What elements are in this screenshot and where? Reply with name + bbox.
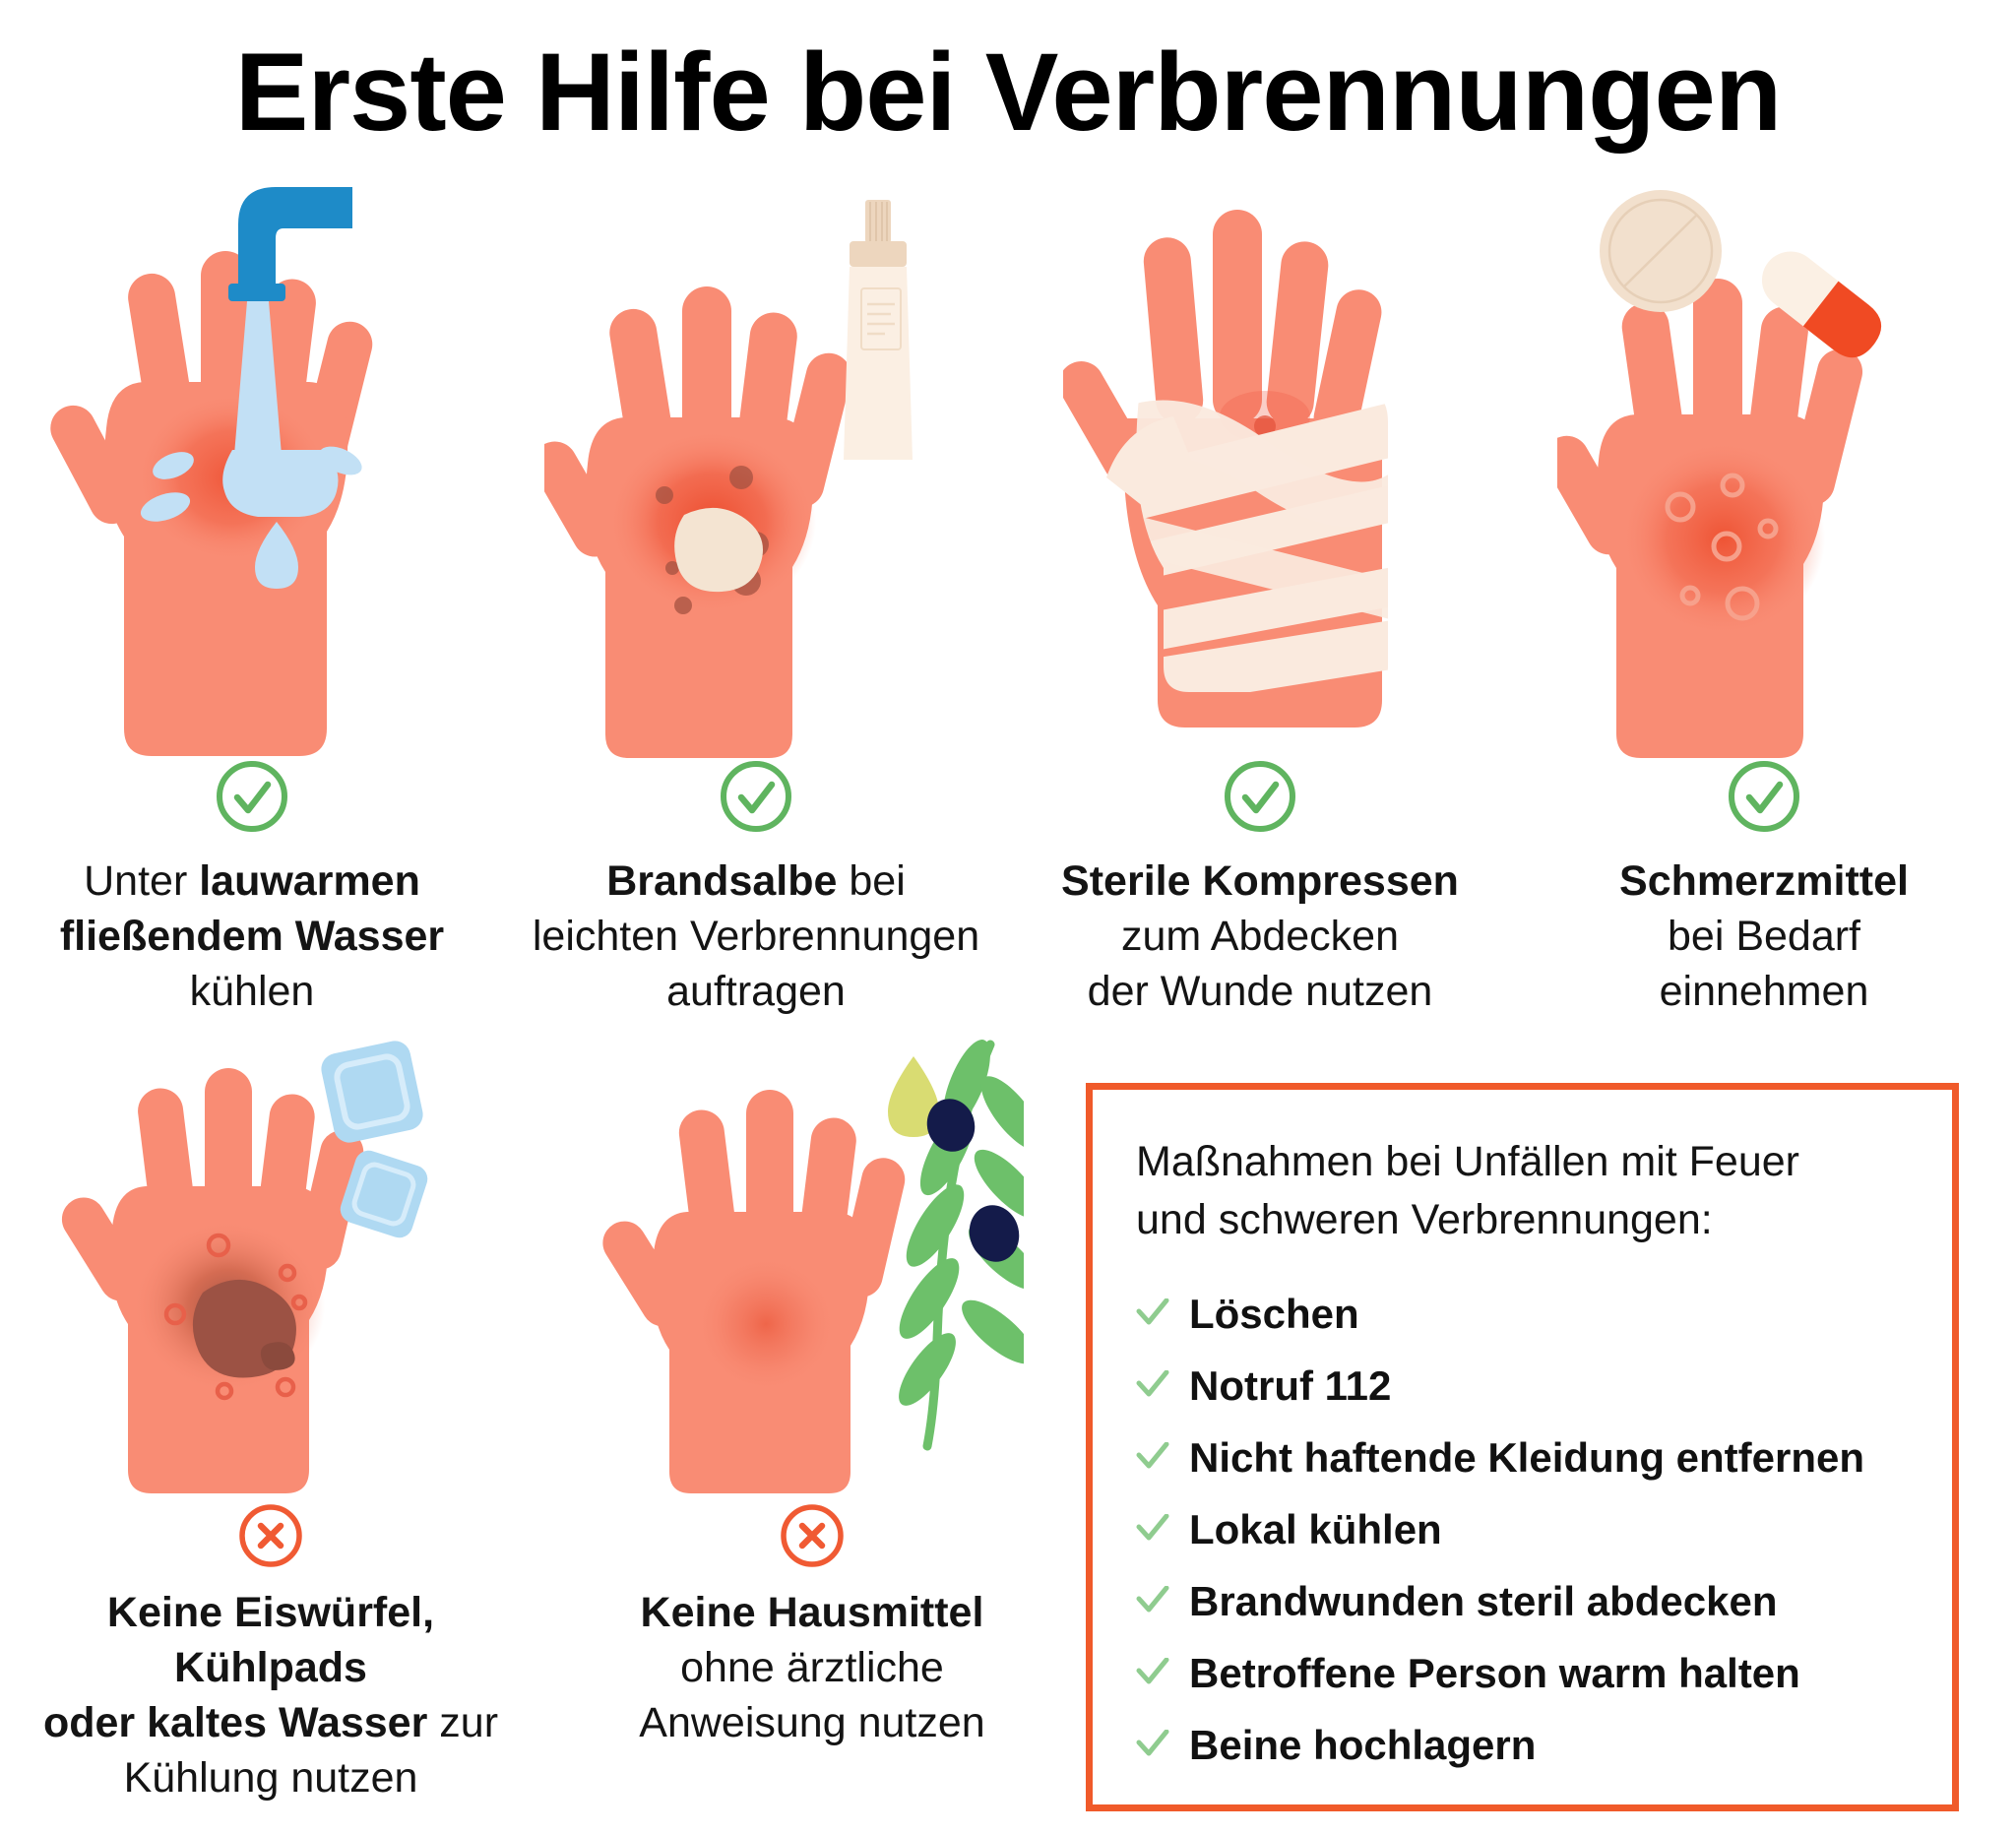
list-item-label: Lokal kühlen [1189, 1509, 1442, 1550]
illustration-hand-with-pill-and-capsule [1512, 182, 2016, 758]
list-item: Nicht haftende Kleidung entfernen [1136, 1437, 1913, 1479]
check-mark-icon [1136, 1658, 1169, 1685]
card-caption: Keine Eiswürfel, Kühlpadsoder kaltes Was… [0, 1586, 541, 1806]
illustration-hand-under-running-water [0, 182, 504, 758]
list-item-label: Brandwunden steril abdecken [1189, 1581, 1777, 1622]
illustration-hand-with-burn-ointment-tube [504, 182, 1008, 758]
list-item: Löschen [1136, 1294, 1913, 1335]
card-painkillers: Schmerzmittelbei Bedarfeinnehmen [1512, 182, 2016, 1009]
list-item-label: Notruf 112 [1189, 1365, 1391, 1407]
illustration-hand-with-olive-branch-and-oil [541, 1019, 1083, 1501]
cross-icon [778, 1501, 847, 1570]
check-icon [1726, 758, 1802, 835]
list-item: Notruf 112 [1136, 1365, 1913, 1407]
card-caption: Schmerzmittelbei Bedarfeinnehmen [1609, 854, 1919, 1020]
measures-list: Löschen Notruf 112 Nicht haftende Kleidu… [1136, 1294, 1913, 1766]
card-no-ice: Keine Eiswürfel, Kühlpadsoder kaltes Was… [0, 1019, 541, 1806]
card-caption: Sterile Kompressenzum Abdeckender Wunde … [1051, 854, 1469, 1020]
check-icon [718, 758, 794, 835]
list-item-label: Nicht haftende Kleidung entfernen [1189, 1437, 1864, 1479]
do-row: Unter lauwarmenfließendem Wasserkühlen [0, 182, 2016, 1009]
check-icon [1222, 758, 1298, 835]
check-mark-icon [1136, 1514, 1169, 1542]
card-caption: Brandsalbe beileichten Verbrennungenauft… [523, 854, 989, 1020]
card-running-water: Unter lauwarmenfließendem Wasserkühlen [0, 182, 504, 1009]
list-item: Lokal kühlen [1136, 1509, 1913, 1550]
illustration-hand-wrapped-in-bandage [1008, 182, 1512, 758]
card-sterile-compress: Sterile Kompressenzum Abdeckender Wunde … [1008, 182, 1512, 1009]
list-item-label: Beine hochlagern [1189, 1725, 1536, 1766]
illustration-hand-with-ice-cubes [0, 1019, 541, 1501]
check-mark-icon [1136, 1442, 1169, 1470]
check-mark-icon [1136, 1730, 1169, 1757]
cross-icon [236, 1501, 305, 1570]
list-item: Beine hochlagern [1136, 1725, 1913, 1766]
emergency-measures-box: Maßnahmen bei Unfällen mit Feuer und sch… [1086, 1083, 1959, 1811]
card-caption: Unter lauwarmenfließendem Wasserkühlen [50, 854, 454, 1020]
check-icon [214, 758, 290, 835]
check-mark-icon [1136, 1298, 1169, 1326]
card-caption: Keine Hausmittelohne ärztlicheAnweisung … [629, 1586, 994, 1751]
check-mark-icon [1136, 1586, 1169, 1614]
check-mark-icon [1136, 1370, 1169, 1398]
list-item-label: Betroffene Person warm halten [1189, 1653, 1800, 1694]
page-title: Erste Hilfe bei Verbrennungen [0, 33, 2016, 153]
card-no-home-remedies: Keine Hausmittelohne ärztlicheAnweisung … [541, 1019, 1083, 1806]
measures-heading: Maßnahmen bei Unfällen mit Feuer und sch… [1136, 1133, 1913, 1250]
dont-row: Keine Eiswürfel, Kühlpadsoder kaltes Was… [0, 1019, 1083, 1806]
infographic-page: Erste Hilfe bei Verbrennungen [0, 0, 2016, 1835]
list-item: Brandwunden steril abdecken [1136, 1581, 1913, 1622]
list-item-label: Löschen [1189, 1294, 1359, 1335]
list-item: Betroffene Person warm halten [1136, 1653, 1913, 1694]
card-burn-ointment: Brandsalbe beileichten Verbrennungenauft… [504, 182, 1008, 1009]
